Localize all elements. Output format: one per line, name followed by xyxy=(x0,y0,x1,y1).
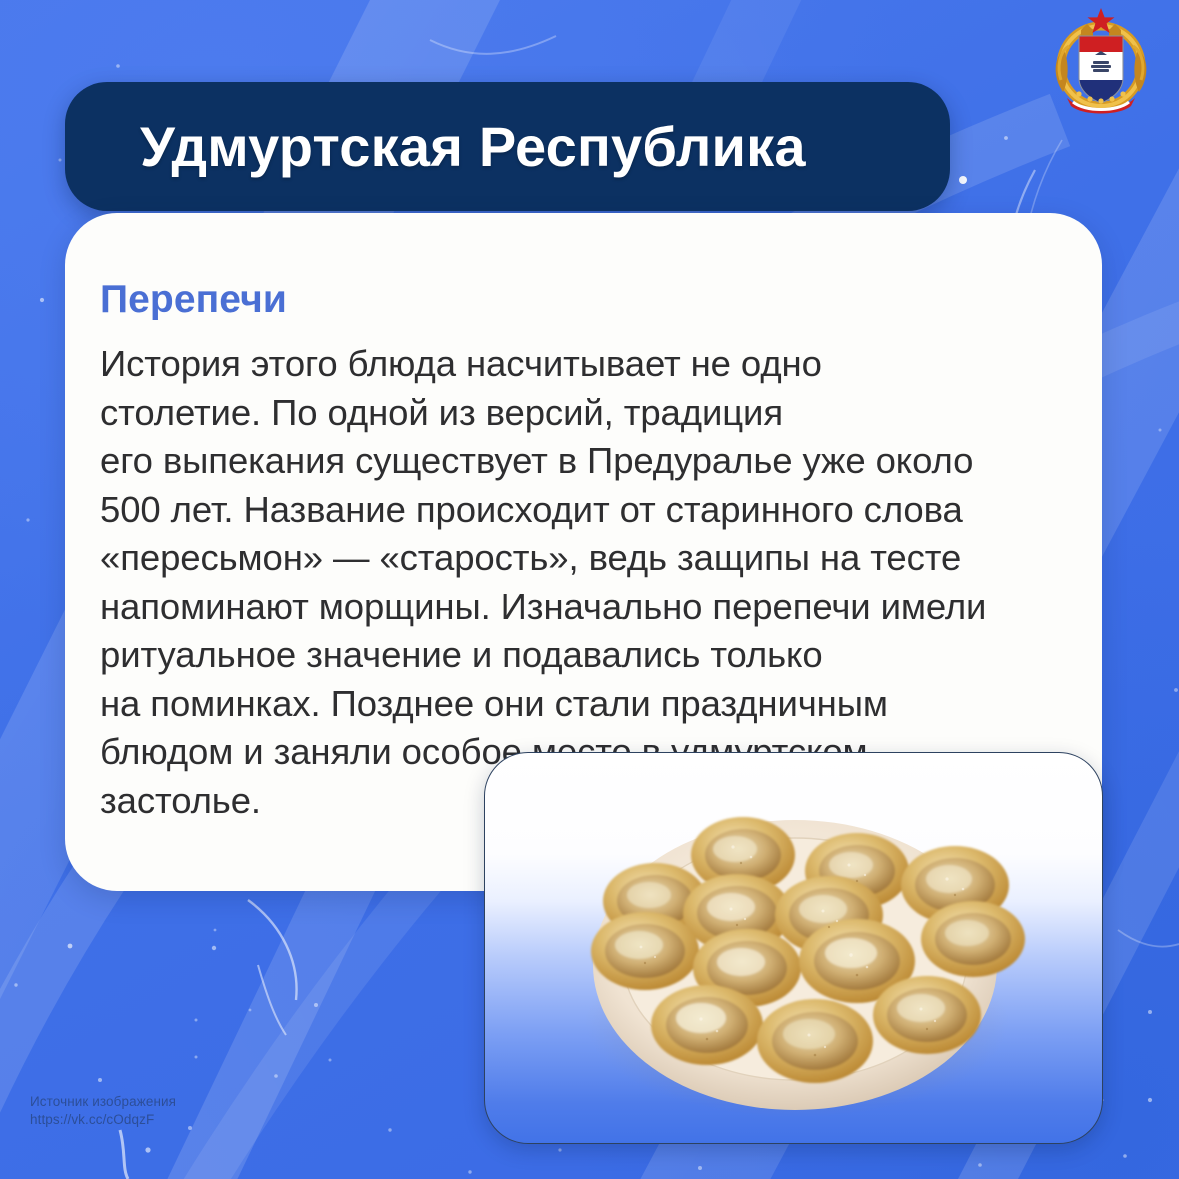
region-title-banner: Удмуртская Республика xyxy=(65,82,950,211)
perepechi-photo xyxy=(485,753,1102,1143)
dish-photo-card xyxy=(484,752,1103,1144)
source-url[interactable]: https://vk.cc/cOdqzF xyxy=(30,1111,176,1129)
dish-heading: Перепечи xyxy=(100,278,287,322)
source-label: Источник изображения xyxy=(30,1093,176,1111)
coat-of-arms-icon xyxy=(1047,6,1155,118)
region-title: Удмуртская Республика xyxy=(65,114,806,179)
poster-root: Удмуртская Республика Перепечи История э… xyxy=(0,0,1179,1179)
image-source-credit: Источник изображения https://vk.cc/cOdqz… xyxy=(30,1093,176,1129)
